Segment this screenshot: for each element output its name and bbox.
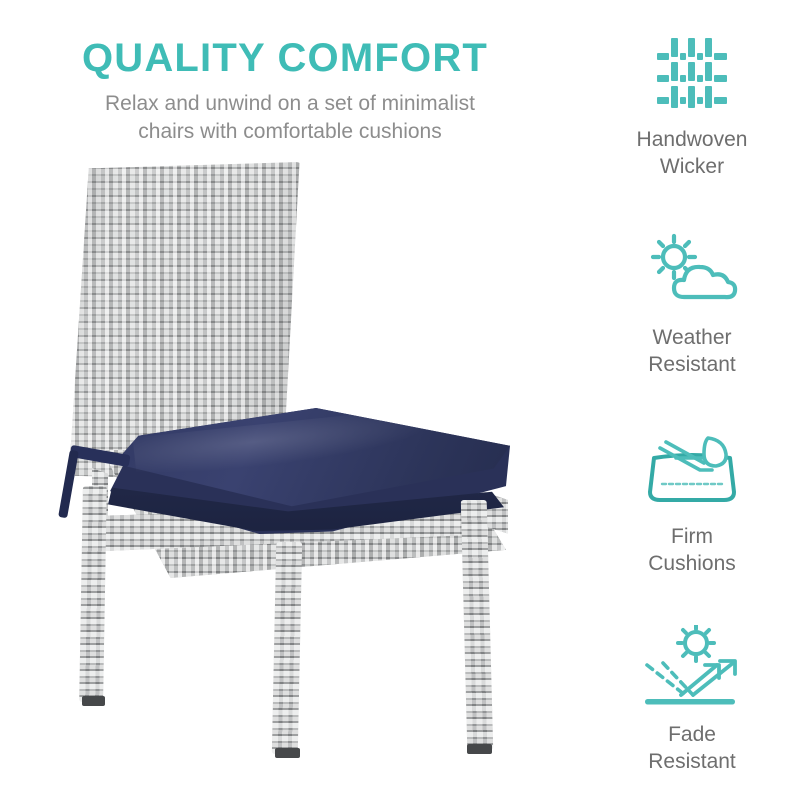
feature-list: Handwoven Wicker — [592, 30, 792, 775]
feature-label-line-1: Handwoven — [637, 128, 748, 151]
page-subtitle: Relax and unwind on a set of minimalist … — [20, 90, 560, 146]
hand-pressing-cushion-icon — [592, 427, 792, 513]
sun-cloud-icon — [592, 228, 792, 314]
feature-label-handwoven-wicker: Handwoven Wicker — [592, 126, 792, 180]
chair-foot-cap-back-left — [82, 696, 105, 706]
feature-label-firm-cushions: Firm Cushions — [592, 523, 792, 577]
feature-label-line-2: Cushions — [592, 550, 792, 577]
cushion-tie-strap-tail — [58, 450, 79, 519]
page-title: QUALITY COMFORT — [0, 36, 570, 81]
chair-leg-back-left — [79, 486, 107, 702]
sun-reflect-arrows-icon — [592, 625, 792, 711]
product-image-wicker-chair — [24, 150, 544, 750]
subtitle-line-2: chairs with comfortable cushions — [20, 118, 560, 146]
feature-label-line-1: Weather — [653, 326, 732, 349]
feature-item-firm-cushions: Firm Cushions — [592, 427, 792, 577]
feature-label-fade-resistant: Fade Resistant — [592, 721, 792, 775]
subtitle-line-1: Relax and unwind on a set of minimalist — [105, 92, 475, 115]
feature-label-line-2: Resistant — [592, 748, 792, 775]
feature-item-fade-resistant: Fade Resistant — [592, 625, 792, 775]
chair-foot-cap-front-right — [467, 744, 492, 754]
feature-label-weather-resistant: Weather Resistant — [592, 324, 792, 378]
feature-label-line-2: Resistant — [592, 351, 792, 378]
feature-label-line-1: Firm — [671, 525, 713, 548]
chair-leg-front-left — [272, 542, 302, 754]
chair-foot-cap-front-left — [275, 748, 300, 758]
woven-grid-icon — [592, 30, 792, 116]
feature-label-line-1: Fade — [668, 723, 716, 746]
feature-item-weather-resistant: Weather Resistant — [592, 228, 792, 378]
feature-label-line-2: Wicker — [592, 153, 792, 180]
product-feature-graphic: QUALITY COMFORT Relax and unwind on a se… — [0, 0, 800, 800]
feature-item-handwoven-wicker: Handwoven Wicker — [592, 30, 792, 180]
